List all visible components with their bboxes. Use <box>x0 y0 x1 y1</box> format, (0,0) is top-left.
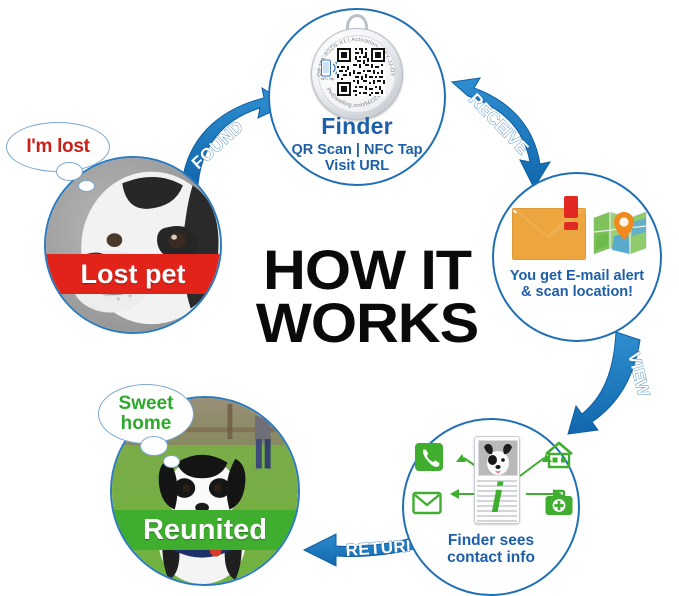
lost-pet-thought-text: I'm lost <box>26 136 89 158</box>
map-pin-icon <box>592 206 648 258</box>
lost-pet-photo <box>46 158 220 332</box>
reunited-thought-line1: Sweet <box>119 393 174 414</box>
lost-pet-banner-label: Lost pet <box>81 259 186 290</box>
svg-text:NFC Tap: NFC Tap <box>321 77 334 81</box>
first-aid-kit-icon <box>544 488 574 518</box>
info-document-icon: i <box>474 436 520 524</box>
reunited-banner: Reunited <box>112 510 298 550</box>
thought-bubble-dot-small <box>78 180 95 192</box>
finder-title: Finder <box>270 114 444 140</box>
finder-subtitle: QR Scan | NFC Tap Visit URL <box>270 142 444 174</box>
email-alert-line1: You get E-mail alert <box>494 268 660 284</box>
page-title-line1: HOW IT <box>235 244 500 297</box>
email-alert-icons <box>508 196 650 262</box>
envelope-icon <box>412 488 442 518</box>
lost-pet-banner: Lost pet <box>46 254 220 294</box>
contact-info-line1: Finder sees <box>404 532 578 549</box>
reunited-thought-text: Sweet home <box>119 394 174 434</box>
reunited-thought-bubble: Sweet home <box>98 384 194 444</box>
reunited-banner-label: Reunited <box>143 514 267 547</box>
arrow-receive: RECEIVE <box>446 78 556 188</box>
pet-tag: QR MA-R2ZN-X1 | Activation: QTY-JJ-OY Pe… <box>311 18 403 118</box>
infographic-how-it-works: FOUND RECEIVE VIEW RETURN QR MA-R2ZN-X1 … <box>0 0 679 596</box>
step-contact-info: i Finder sees contact info <box>402 418 580 596</box>
alert-exclamation-icon <box>564 196 578 230</box>
finder-sub-line1: QR Scan | NFC Tap <box>270 142 444 158</box>
thought-bubble-dot-large <box>56 162 83 181</box>
step-lost-pet: Lost pet <box>44 156 222 334</box>
qr-code-icon <box>337 48 385 96</box>
info-letter-icon: i <box>491 477 503 519</box>
step-email-alert: You get E-mail alert & scan location! <box>492 172 662 342</box>
reunited-bubble-dot-small <box>163 455 180 468</box>
reunited-thought-line2: home <box>121 413 172 434</box>
reunited-bubble-dot-large <box>140 436 168 456</box>
email-alert-text: You get E-mail alert & scan location! <box>494 268 660 300</box>
page-title: HOW IT WORKS <box>235 244 500 349</box>
pet-photo-thumbnail <box>478 440 518 476</box>
email-alert-line2: & scan location! <box>494 284 660 300</box>
contact-info-line2: contact info <box>404 549 578 566</box>
contact-info-text: Finder sees contact info <box>404 532 578 567</box>
finder-sub-line2: Visit URL <box>270 158 444 174</box>
step-finder: QR MA-R2ZN-X1 | Activation: QTY-JJ-OY Pe… <box>268 8 446 186</box>
arrow-view: VIEW <box>556 330 642 440</box>
page-title-line2: WORKS <box>235 297 500 350</box>
home-icon <box>544 440 574 470</box>
phone-icon <box>414 442 444 472</box>
lost-pet-thought-bubble: I'm lost <box>6 122 110 172</box>
contact-info-icons: i <box>412 436 574 532</box>
